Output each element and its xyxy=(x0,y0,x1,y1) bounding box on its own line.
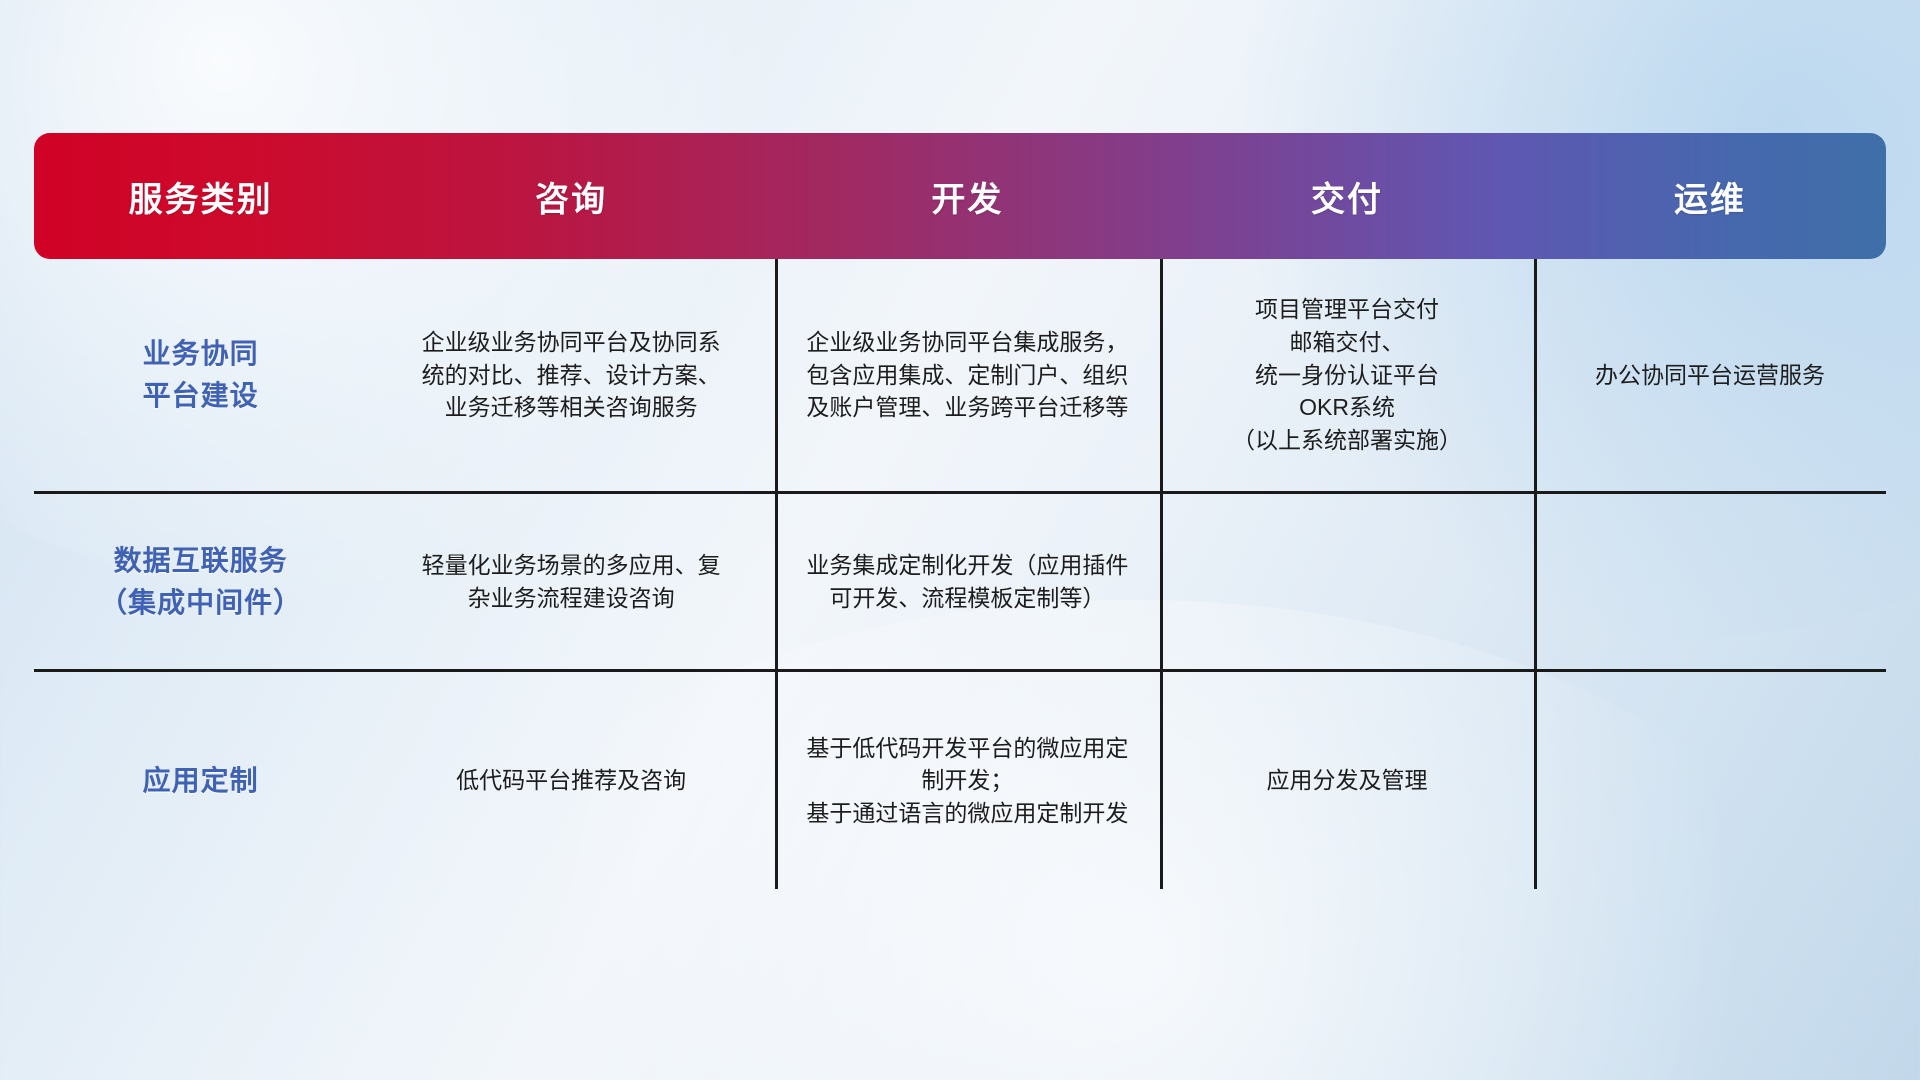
row-category-label: 数据互联服务 （集成中间件） xyxy=(99,540,302,624)
column-header-category-label: 服务类别 xyxy=(129,172,273,221)
cell-consulting: 低代码平台推荐及咨询 xyxy=(367,672,774,889)
row-category-cell: 数据互联服务 （集成中间件） xyxy=(34,494,367,669)
cell-development: 业务集成定制化开发（应用插件 可开发、流程模板定制等） xyxy=(775,494,1160,669)
cell-operations: 办公协同平台运营服务 xyxy=(1534,259,1886,491)
column-header-development: 开发 xyxy=(775,133,1160,259)
cell-operations xyxy=(1534,494,1886,669)
column-header-consulting-label: 咨询 xyxy=(535,172,607,221)
row-category-label: 应用定制 xyxy=(143,760,259,802)
cell-development-text: 基于低代码开发平台的微应用定 制开发； 基于通过语言的微应用定制开发 xyxy=(806,732,1128,830)
column-header-delivery-label: 交付 xyxy=(1311,172,1383,221)
row-category-cell: 业务协同 平台建设 xyxy=(34,259,367,491)
cell-consulting-text: 轻量化业务场景的多应用、复 杂业务流程建设咨询 xyxy=(422,549,721,614)
service-matrix-table: 服务类别 咨询 开发 交付 运维 业务协同 平台建设 企业级业务协同平台及协同系… xyxy=(34,133,1886,953)
cell-delivery: 应用分发及管理 xyxy=(1160,672,1534,889)
column-header-delivery: 交付 xyxy=(1160,133,1534,259)
table-row: 数据互联服务 （集成中间件） 轻量化业务场景的多应用、复 杂业务流程建设咨询 业… xyxy=(34,491,1886,669)
row-category-cell: 应用定制 xyxy=(34,672,367,889)
cell-development: 基于低代码开发平台的微应用定 制开发； 基于通过语言的微应用定制开发 xyxy=(775,672,1160,889)
cell-development: 企业级业务协同平台集成服务， 包含应用集成、定制门户、组织 及账户管理、业务跨平… xyxy=(775,259,1160,491)
cell-development-text: 业务集成定制化开发（应用插件 可开发、流程模板定制等） xyxy=(806,549,1128,614)
column-header-consulting: 咨询 xyxy=(367,133,774,259)
column-header-operations-label: 运维 xyxy=(1674,172,1746,221)
table-header-row: 服务类别 咨询 开发 交付 运维 xyxy=(34,133,1886,259)
table-row: 应用定制 低代码平台推荐及咨询 基于低代码开发平台的微应用定 制开发； 基于通过… xyxy=(34,669,1886,889)
cell-development-text: 企业级业务协同平台集成服务， 包含应用集成、定制门户、组织 及账户管理、业务跨平… xyxy=(806,326,1128,424)
cell-delivery xyxy=(1160,494,1534,669)
row-category-label: 业务协同 平台建设 xyxy=(143,333,259,417)
column-header-development-label: 开发 xyxy=(931,172,1003,221)
cell-delivery: 项目管理平台交付 邮箱交付、 统一身份认证平台 OKR系统 （以上系统部署实施） xyxy=(1160,259,1534,491)
cell-delivery-text: 应用分发及管理 xyxy=(1267,764,1428,797)
column-header-category: 服务类别 xyxy=(34,133,367,259)
cell-consulting: 轻量化业务场景的多应用、复 杂业务流程建设咨询 xyxy=(367,494,774,669)
cell-operations xyxy=(1534,672,1886,889)
cell-delivery-text: 项目管理平台交付 邮箱交付、 统一身份认证平台 OKR系统 （以上系统部署实施） xyxy=(1232,293,1462,456)
table-row: 业务协同 平台建设 企业级业务协同平台及协同系 统的对比、推荐、设计方案、 业务… xyxy=(34,259,1886,491)
table-body: 业务协同 平台建设 企业级业务协同平台及协同系 统的对比、推荐、设计方案、 业务… xyxy=(34,253,1886,889)
cell-consulting-text: 企业级业务协同平台及协同系 统的对比、推荐、设计方案、 业务迁移等相关咨询服务 xyxy=(422,326,721,424)
cell-operations-text: 办公协同平台运营服务 xyxy=(1595,359,1825,392)
cell-consulting: 企业级业务协同平台及协同系 统的对比、推荐、设计方案、 业务迁移等相关咨询服务 xyxy=(367,259,774,491)
column-header-operations: 运维 xyxy=(1534,133,1886,259)
cell-consulting-text: 低代码平台推荐及咨询 xyxy=(456,764,686,797)
